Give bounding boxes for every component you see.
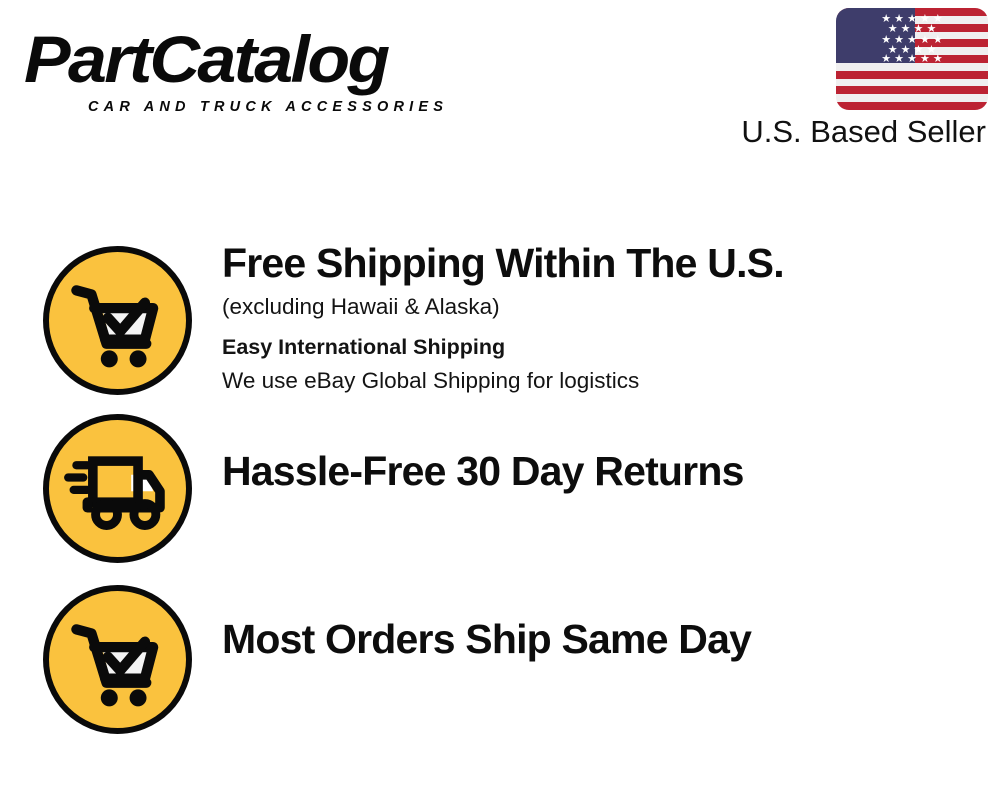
benefit-subtext-exclusion: (excluding Hawaii & Alaska): [222, 291, 990, 322]
flag-stripe: [836, 102, 988, 110]
shopping-cart-check-icon: [43, 246, 192, 395]
benefit-title: Hassle-Free 30 Day Returns: [222, 445, 990, 497]
benefit-text-block: Free Shipping Within The U.S. (excluding…: [222, 237, 990, 396]
us-based-seller-badge: ★ ★ ★ ★ ★ ★ ★ ★ ★ ★ ★ ★ ★ ★ ★ ★ ★ ★ ★ ★ …: [718, 8, 988, 150]
page-header: PartCatalog CAR AND TRUCK ACCESSORIES ★ …: [0, 0, 1000, 170]
seller-badge-label: U.S. Based Seller: [718, 114, 988, 150]
benefit-subtext-international: Easy International Shipping: [222, 332, 990, 363]
delivery-truck-icon: [43, 414, 192, 563]
flag-stripe: [836, 86, 988, 94]
flag-stripe: [836, 71, 988, 79]
flag-star-row: ★ ★ ★ ★ ★: [836, 54, 988, 65]
us-flag-icon: ★ ★ ★ ★ ★ ★ ★ ★ ★ ★ ★ ★ ★ ★ ★ ★ ★ ★ ★ ★ …: [836, 8, 988, 110]
benefit-title: Free Shipping Within The U.S.: [222, 237, 990, 289]
brand-tagline: CAR AND TRUCK ACCESSORIES: [88, 99, 448, 115]
benefit-row-free-shipping: Free Shipping Within The U.S. (excluding…: [0, 234, 1000, 404]
benefit-row-returns: Hassle-Free 30 Day Returns: [0, 404, 1000, 574]
benefit-text-block: Hassle-Free 30 Day Returns: [222, 445, 990, 497]
shopping-cart-check-icon: [43, 585, 192, 734]
benefit-text-block: Most Orders Ship Same Day: [222, 613, 990, 665]
benefit-title: Most Orders Ship Same Day: [222, 613, 990, 665]
brand-logo[interactable]: PartCatalog CAR AND TRUCK ACCESSORIES: [24, 22, 494, 117]
benefits-list: Free Shipping Within The U.S. (excluding…: [0, 234, 1000, 744]
benefit-subtext-logistics: We use eBay Global Shipping for logistic…: [222, 365, 990, 396]
brand-wordmark: PartCatalog: [24, 22, 387, 96]
benefit-row-same-day-shipping: Most Orders Ship Same Day: [0, 574, 1000, 744]
